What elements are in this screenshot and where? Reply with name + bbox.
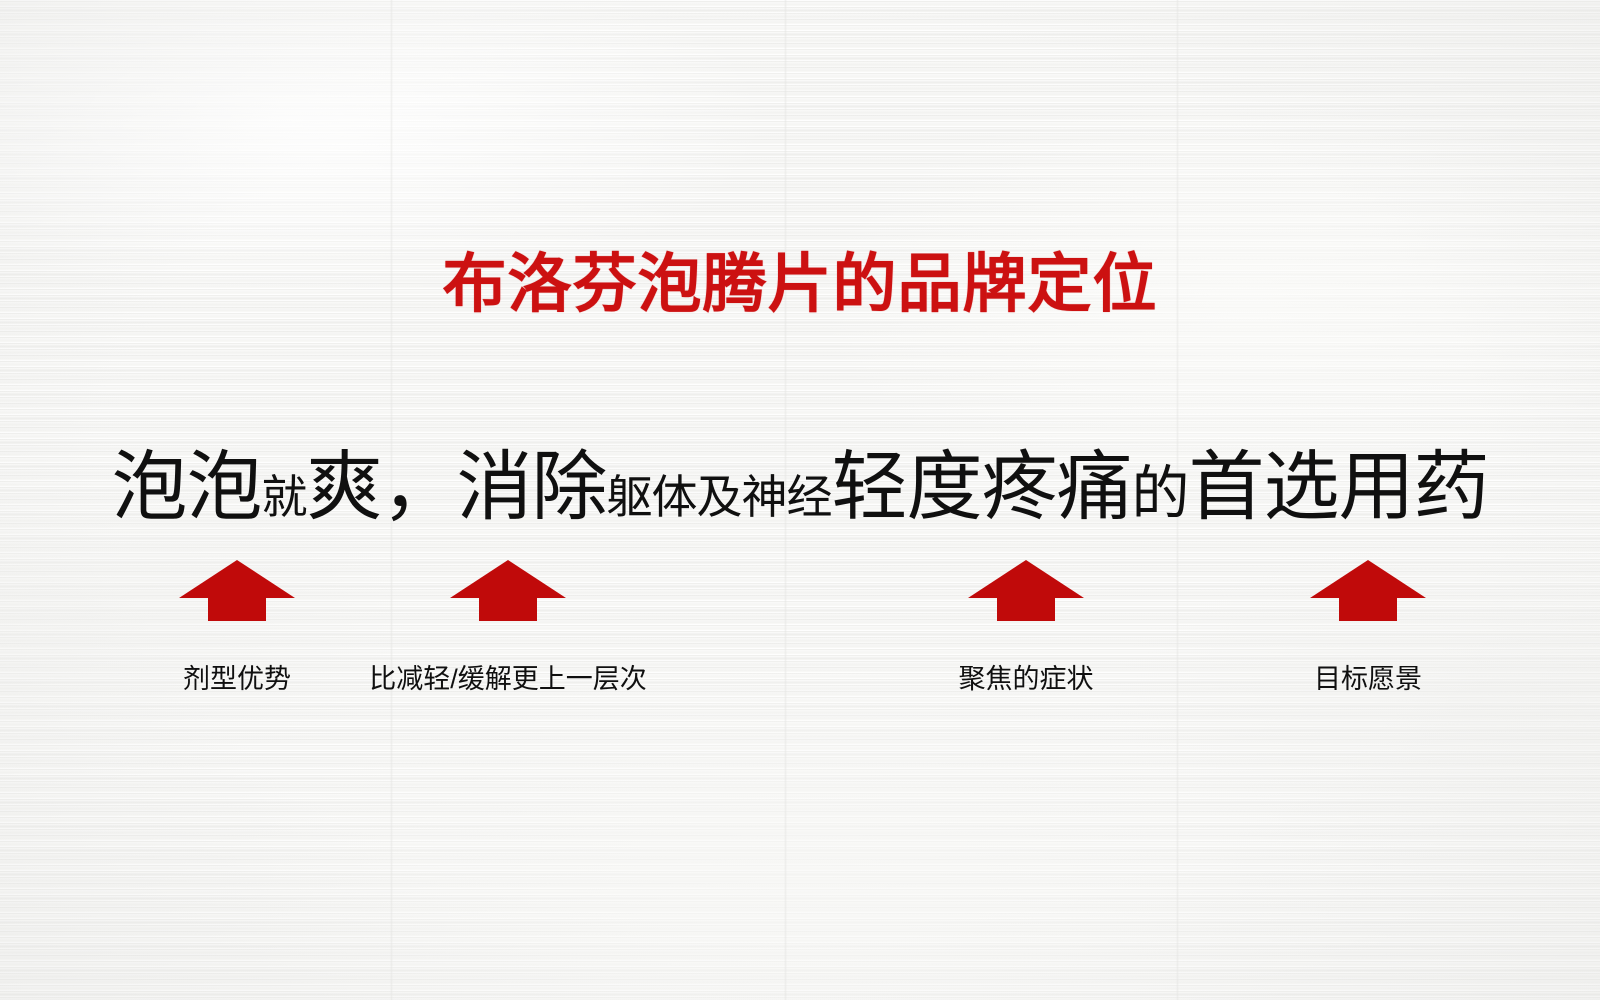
slide-title: 布洛芬泡腾片的品牌定位 — [0, 252, 1600, 316]
headline-segment: 的 — [1131, 465, 1188, 523]
headline-segment: 爽， — [306, 450, 456, 526]
slide-canvas: 布洛芬泡腾片的品牌定位 泡泡就爽，消除躯体及神经轻度疼痛的首选用药 剂型优势 比… — [0, 0, 1600, 1000]
annotation-label-efficacy-tier: 比减轻/缓解更上一层次 — [338, 663, 678, 695]
headline-segment: 泡泡 — [111, 450, 261, 526]
up-arrow-icon — [449, 558, 567, 623]
annotation-label-focus-symptom: 聚焦的症状 — [876, 663, 1176, 695]
up-arrow-icon — [1309, 558, 1427, 623]
annotation-label-dosage-advantage: 剂型优势 — [137, 663, 337, 695]
up-arrow-icon — [178, 558, 296, 623]
headline-text: 泡泡就爽，消除躯体及神经轻度疼痛的首选用药 — [0, 450, 1600, 550]
headline-segment: 首选用药 — [1189, 450, 1489, 526]
headline-segment: 就 — [261, 474, 306, 520]
headline-segment: 躯体及神经 — [606, 474, 831, 520]
headline-segment: 消除 — [456, 450, 606, 526]
annotation-label-target-vision: 目标愿景 — [1268, 663, 1468, 695]
up-arrow-icon — [967, 558, 1085, 623]
headline-segment: 轻度疼痛 — [831, 450, 1131, 526]
